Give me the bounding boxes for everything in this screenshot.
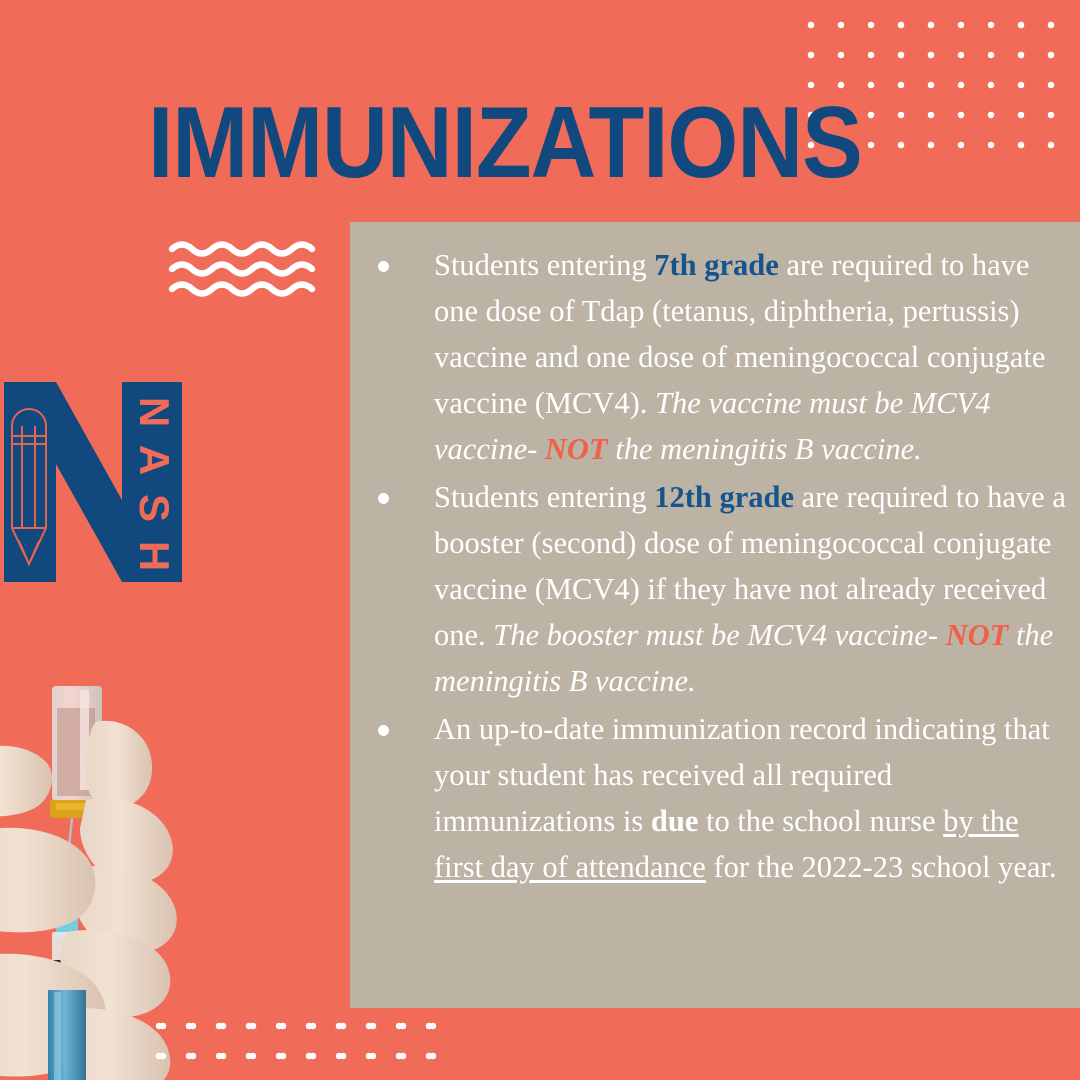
wave-line [172,245,312,254]
text-segment: 7th grade [654,248,779,282]
text-segment: the meningitis B vaccine. [608,432,922,466]
page-title: IMMUNIZATIONS [148,92,862,193]
list-item: An up-to-date immunization record indica… [378,706,1070,890]
text-segment: Students entering [434,480,654,514]
nash-logo: N A S H [0,378,186,586]
text-segment: Students entering [434,248,654,282]
text-segment: for the 2022-23 school year. [706,850,1057,884]
text-segment: to the school nurse [698,804,943,838]
logo-letter-H: H [131,541,178,571]
stripe-line [0,40,20,118]
syringe-barrel [48,990,86,1080]
wave-line [172,265,312,274]
logo-letter-A: A [131,445,178,475]
text-segment: 12th grade [654,480,794,514]
content-panel: Students entering 7th grade are required… [350,222,1080,1008]
stripe-line [0,100,20,118]
list-item: Students entering 7th grade are required… [378,242,1070,472]
text-segment: The booster must be MCV4 vaccine- [493,618,945,652]
text-segment: due [651,804,698,838]
stripe-line [0,0,20,118]
text-segment: NOT [545,432,608,466]
stripe-line [0,10,20,118]
text-segment: NOT [946,618,1009,652]
poster-canvas: IMMUNIZATIONS N A S [0,0,1080,1080]
list-item: Students entering 12th grade are require… [378,474,1070,704]
logo-letter-N: N [131,397,178,427]
diagonal-stripes-decoration [0,0,118,118]
stripe-line [0,70,20,118]
wavy-lines-decoration [168,240,330,298]
logo-letter-S: S [131,494,178,522]
wave-line [172,285,312,294]
syringe-highlight [54,992,61,1080]
requirements-list: Students entering 7th grade are required… [378,242,1070,892]
dot-grid-bottom-left-extra-decoration [142,1005,448,1080]
